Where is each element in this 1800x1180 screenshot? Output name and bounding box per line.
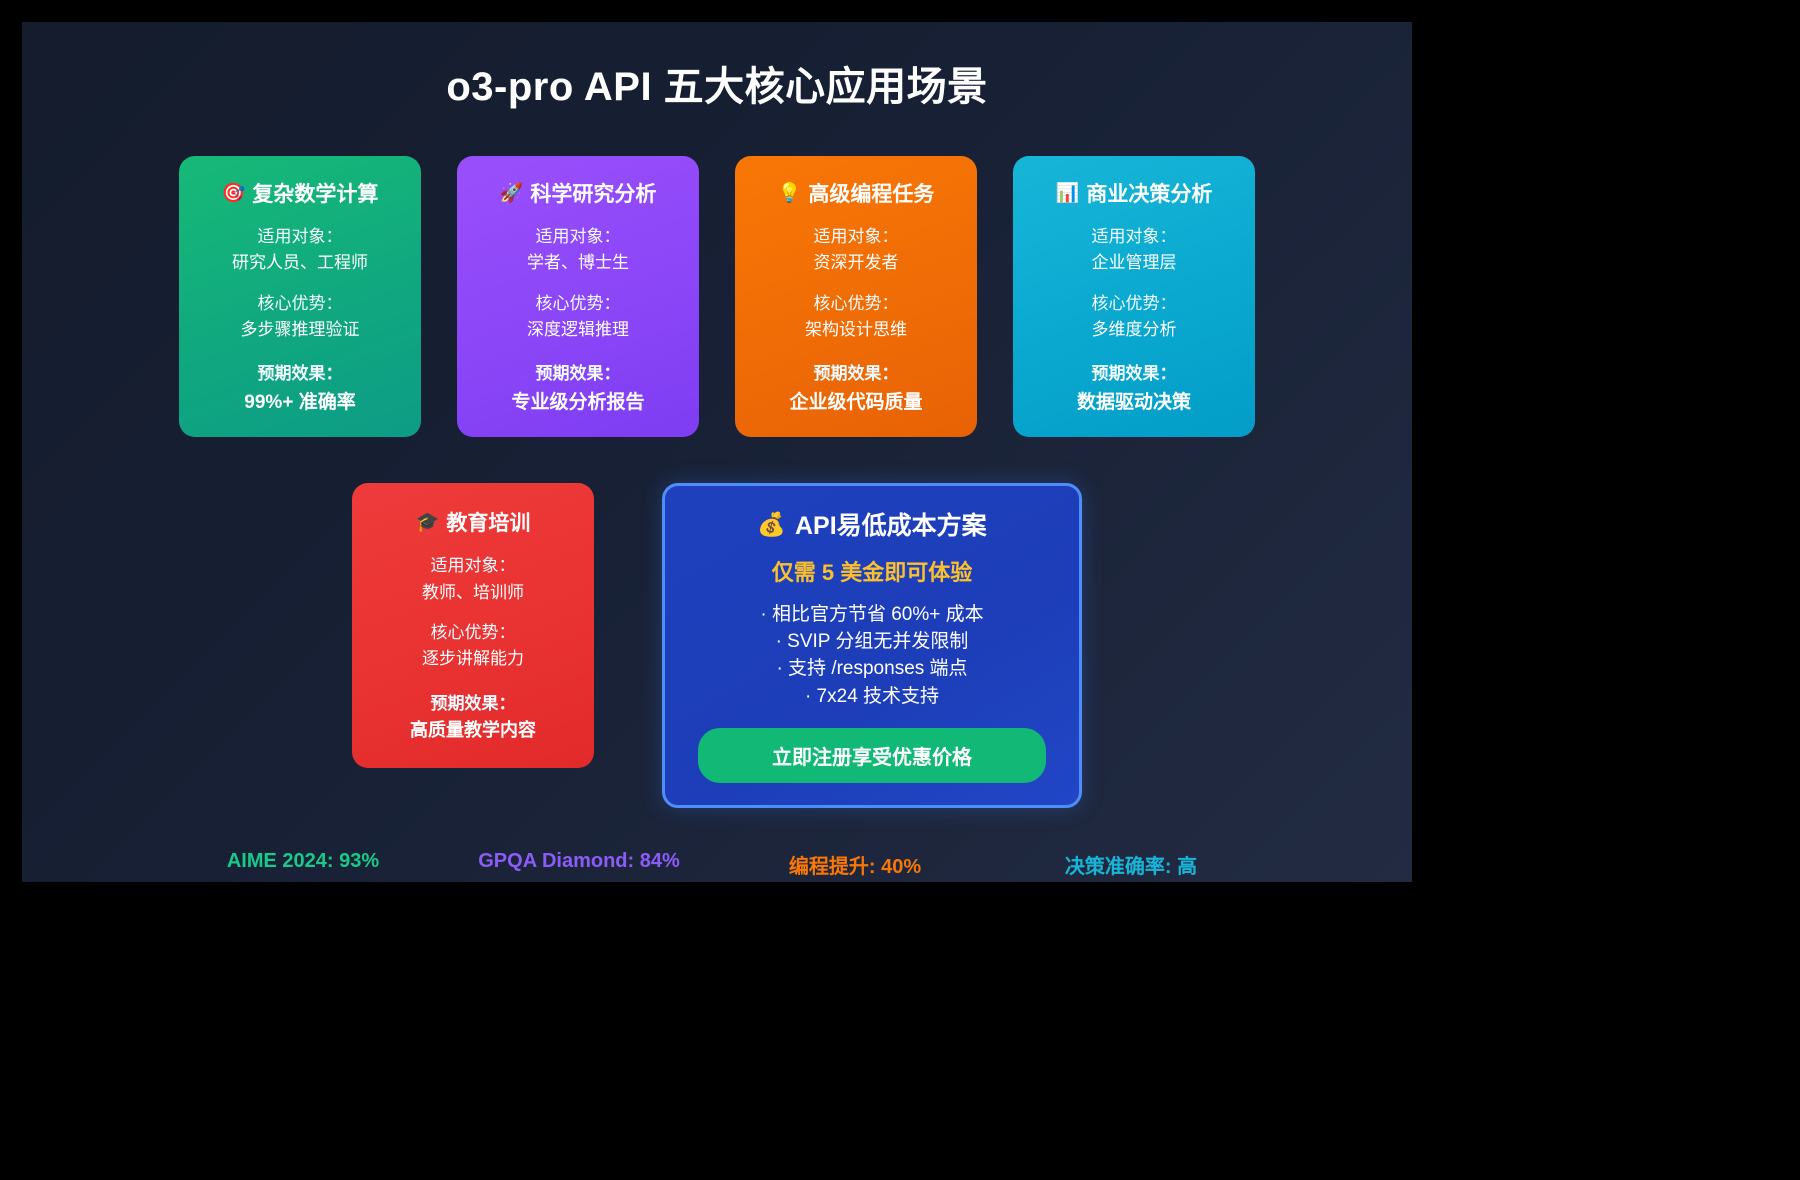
audience-label: 适用对象： <box>471 224 685 250</box>
result-block: 预期效果： 专业级分析报告 <box>471 361 685 417</box>
scenario-card-education[interactable]: 🎓 教育培训 适用对象： 教师、培训师 核心优势： 逐步讲解能力 预期效果： 高… <box>352 483 594 768</box>
card-header: 📊 商业决策分析 <box>1027 178 1241 208</box>
result-block: 预期效果： 高质量教学内容 <box>366 691 580 745</box>
audience-label: 适用对象： <box>193 224 407 250</box>
lightbulb-icon: 💡 <box>778 184 802 203</box>
card-header: 💡 高级编程任务 <box>749 178 963 208</box>
advantage-label: 核心优势： <box>1027 291 1241 317</box>
result-label: 预期效果： <box>749 361 963 387</box>
scenario-card-grid: 🎯 复杂数学计算 适用对象： 研究人员、工程师 核心优势： 多步骤推理验证 预期… <box>22 156 1412 437</box>
audience-label: 适用对象： <box>1027 224 1241 250</box>
list-item: · 支持 /responses 端点 <box>683 655 1061 682</box>
result-block: 预期效果： 99%+ 准确率 <box>193 361 407 417</box>
promo-title: 💰 API易低成本方案 <box>683 506 1061 542</box>
stat-aime: AIME 2024: 93% <box>182 850 424 879</box>
audience-label: 适用对象： <box>749 224 963 250</box>
audience-block: 适用对象： 学者、博士生 <box>471 224 685 277</box>
result-value: 企业级代码质量 <box>749 388 963 417</box>
result-value: 数据驱动决策 <box>1027 388 1241 417</box>
audience-label: 适用对象： <box>366 553 580 579</box>
advantage-label: 核心优势： <box>193 291 407 317</box>
money-bag-icon: 💰 <box>757 513 786 536</box>
card-title: 科学研究分析 <box>530 178 656 208</box>
result-label: 预期效果： <box>193 361 407 387</box>
graduation-cap-icon: 🎓 <box>416 513 440 532</box>
card-header: 🎓 教育培训 <box>366 507 580 537</box>
card-title: 教育培训 <box>446 507 530 537</box>
dart-target-icon: 🎯 <box>222 184 246 203</box>
card-title: 高级编程任务 <box>808 178 934 208</box>
advantage-label: 核心优势： <box>471 291 685 317</box>
register-cta-button[interactable]: 立即注册享受优惠价格 <box>698 728 1046 783</box>
audience-value: 资深开发者 <box>749 250 963 276</box>
scenario-card-business[interactable]: 📊 商业决策分析 适用对象： 企业管理层 核心优势： 多维度分析 预期效果： 数… <box>1013 156 1255 437</box>
advantage-value: 多维度分析 <box>1027 317 1241 343</box>
advantage-block: 核心优势： 深度逻辑推理 <box>471 291 685 344</box>
advantage-value: 多步骤推理验证 <box>193 317 407 343</box>
audience-value: 企业管理层 <box>1027 250 1241 276</box>
result-label: 预期效果： <box>1027 361 1241 387</box>
advantage-block: 核心优势： 多步骤推理验证 <box>193 291 407 344</box>
advantage-label: 核心优势： <box>749 291 963 317</box>
result-block: 预期效果： 企业级代码质量 <box>749 361 963 417</box>
audience-block: 适用对象： 企业管理层 <box>1027 224 1241 277</box>
promo-subtitle: 仅需 5 美金即可体验 <box>683 555 1061 587</box>
advantage-block: 核心优势： 多维度分析 <box>1027 291 1241 344</box>
scenario-card-coding[interactable]: 💡 高级编程任务 适用对象： 资深开发者 核心优势： 架构设计思维 预期效果： … <box>735 156 977 437</box>
card-title: 商业决策分析 <box>1086 178 1212 208</box>
card-title: 复杂数学计算 <box>252 178 378 208</box>
audience-value: 研究人员、工程师 <box>193 250 407 276</box>
card-header: 🎯 复杂数学计算 <box>193 178 407 208</box>
advantage-block: 核心优势： 逐步讲解能力 <box>366 620 580 673</box>
page-title: o3-pro API 五大核心应用场景 <box>22 54 1412 112</box>
result-value: 高质量教学内容 <box>366 717 580 745</box>
result-label: 预期效果： <box>471 361 685 387</box>
audience-value: 学者、博士生 <box>471 250 685 276</box>
promo-card-api-pricing[interactable]: 💰 API易低成本方案 仅需 5 美金即可体验 · 相比官方节省 60%+ 成本… <box>662 483 1082 808</box>
scenario-card-research[interactable]: 🚀 科学研究分析 适用对象： 学者、博士生 核心优势： 深度逻辑推理 预期效果：… <box>457 156 699 437</box>
audience-block: 适用对象： 研究人员、工程师 <box>193 224 407 277</box>
card-header: 🚀 科学研究分析 <box>471 178 685 208</box>
list-item: · 相比官方节省 60%+ 成本 <box>683 601 1061 628</box>
audience-value: 教师、培训师 <box>366 580 580 606</box>
list-item: · SVIP 分组无并发限制 <box>683 628 1061 655</box>
stat-gpqa: GPQA Diamond: 84% <box>458 850 700 879</box>
audience-block: 适用对象： 教师、培训师 <box>366 553 580 606</box>
result-value: 专业级分析报告 <box>471 388 685 417</box>
advantage-block: 核心优势： 架构设计思维 <box>749 291 963 344</box>
promo-title-text: API易低成本方案 <box>795 506 987 542</box>
advantage-value: 逐步讲解能力 <box>366 646 580 672</box>
list-item: · 7x24 技术支持 <box>683 683 1061 710</box>
scenario-card-math[interactable]: 🎯 复杂数学计算 适用对象： 研究人员、工程师 核心优势： 多步骤推理验证 预期… <box>179 156 421 437</box>
audience-block: 适用对象： 资深开发者 <box>749 224 963 277</box>
bar-chart-icon: 📊 <box>1056 184 1080 203</box>
promo-benefit-list: · 相比官方节省 60%+ 成本 · SVIP 分组无并发限制 · 支持 /re… <box>683 601 1061 710</box>
advantage-label: 核心优势： <box>366 620 580 646</box>
result-value: 99%+ 准确率 <box>193 388 407 417</box>
benchmark-stats-row: AIME 2024: 93% GPQA Diamond: 84% 编程提升: 4… <box>22 850 1412 879</box>
result-block: 预期效果： 数据驱动决策 <box>1027 361 1241 417</box>
advantage-value: 架构设计思维 <box>749 317 963 343</box>
rocket-icon: 🚀 <box>500 184 524 203</box>
stat-coding: 编程提升: 40% <box>734 850 976 879</box>
poster-canvas: o3-pro API 五大核心应用场景 🎯 复杂数学计算 适用对象： 研究人员、… <box>22 22 1412 882</box>
advantage-value: 深度逻辑推理 <box>471 317 685 343</box>
result-label: 预期效果： <box>366 691 580 717</box>
stat-decision: 决策准确率: 高 <box>1010 850 1252 879</box>
secondary-card-row: 🎓 教育培训 适用对象： 教师、培训师 核心优势： 逐步讲解能力 预期效果： 高… <box>22 483 1412 808</box>
